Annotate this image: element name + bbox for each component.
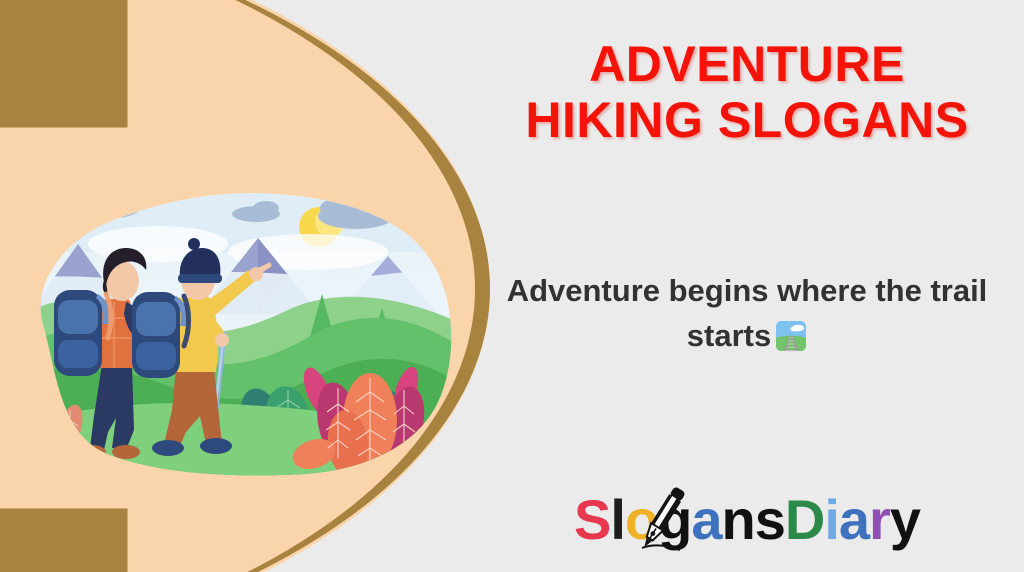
logo-wordmark: SlogansDiary [574,478,920,562]
logo-letter-i: i [824,488,839,551]
railway-track-emoji [775,319,807,351]
logo-letter-s2: s [755,488,785,551]
logo-letter-y: y [890,488,920,551]
logo-letter-n: n [722,488,755,551]
logo-letter-d: D [785,488,824,551]
page-title: ADVENTURE HIKING SLOGANS [470,36,1024,148]
logo-letter-a2: a [839,488,869,551]
poster-canvas: ADVENTURE HIKING SLOGANS Adventure begin… [0,0,1024,572]
two-hikers-on-hill-illustration [8,182,460,482]
logo-letter-l: l [610,488,625,551]
right-content-column: ADVENTURE HIKING SLOGANS Adventure begin… [470,0,1024,572]
slogan-text-body: Adventure begins where the trail starts [507,273,988,353]
slogansdiary-logo[interactable]: SlogansDiary [470,478,1024,562]
slogan-text: Adventure begins where the trail starts [494,268,1000,359]
logo-letter-s: S [574,488,610,551]
logo-letter-a1: a [691,488,721,551]
page-title-line-2: HIKING SLOGANS [470,92,1024,148]
illustration-scene [8,182,460,482]
logo-letter-g: g [658,488,691,551]
logo-letter-r: r [869,488,890,551]
page-title-line-1: ADVENTURE [589,36,905,92]
logo-letter-o: o [625,488,658,551]
